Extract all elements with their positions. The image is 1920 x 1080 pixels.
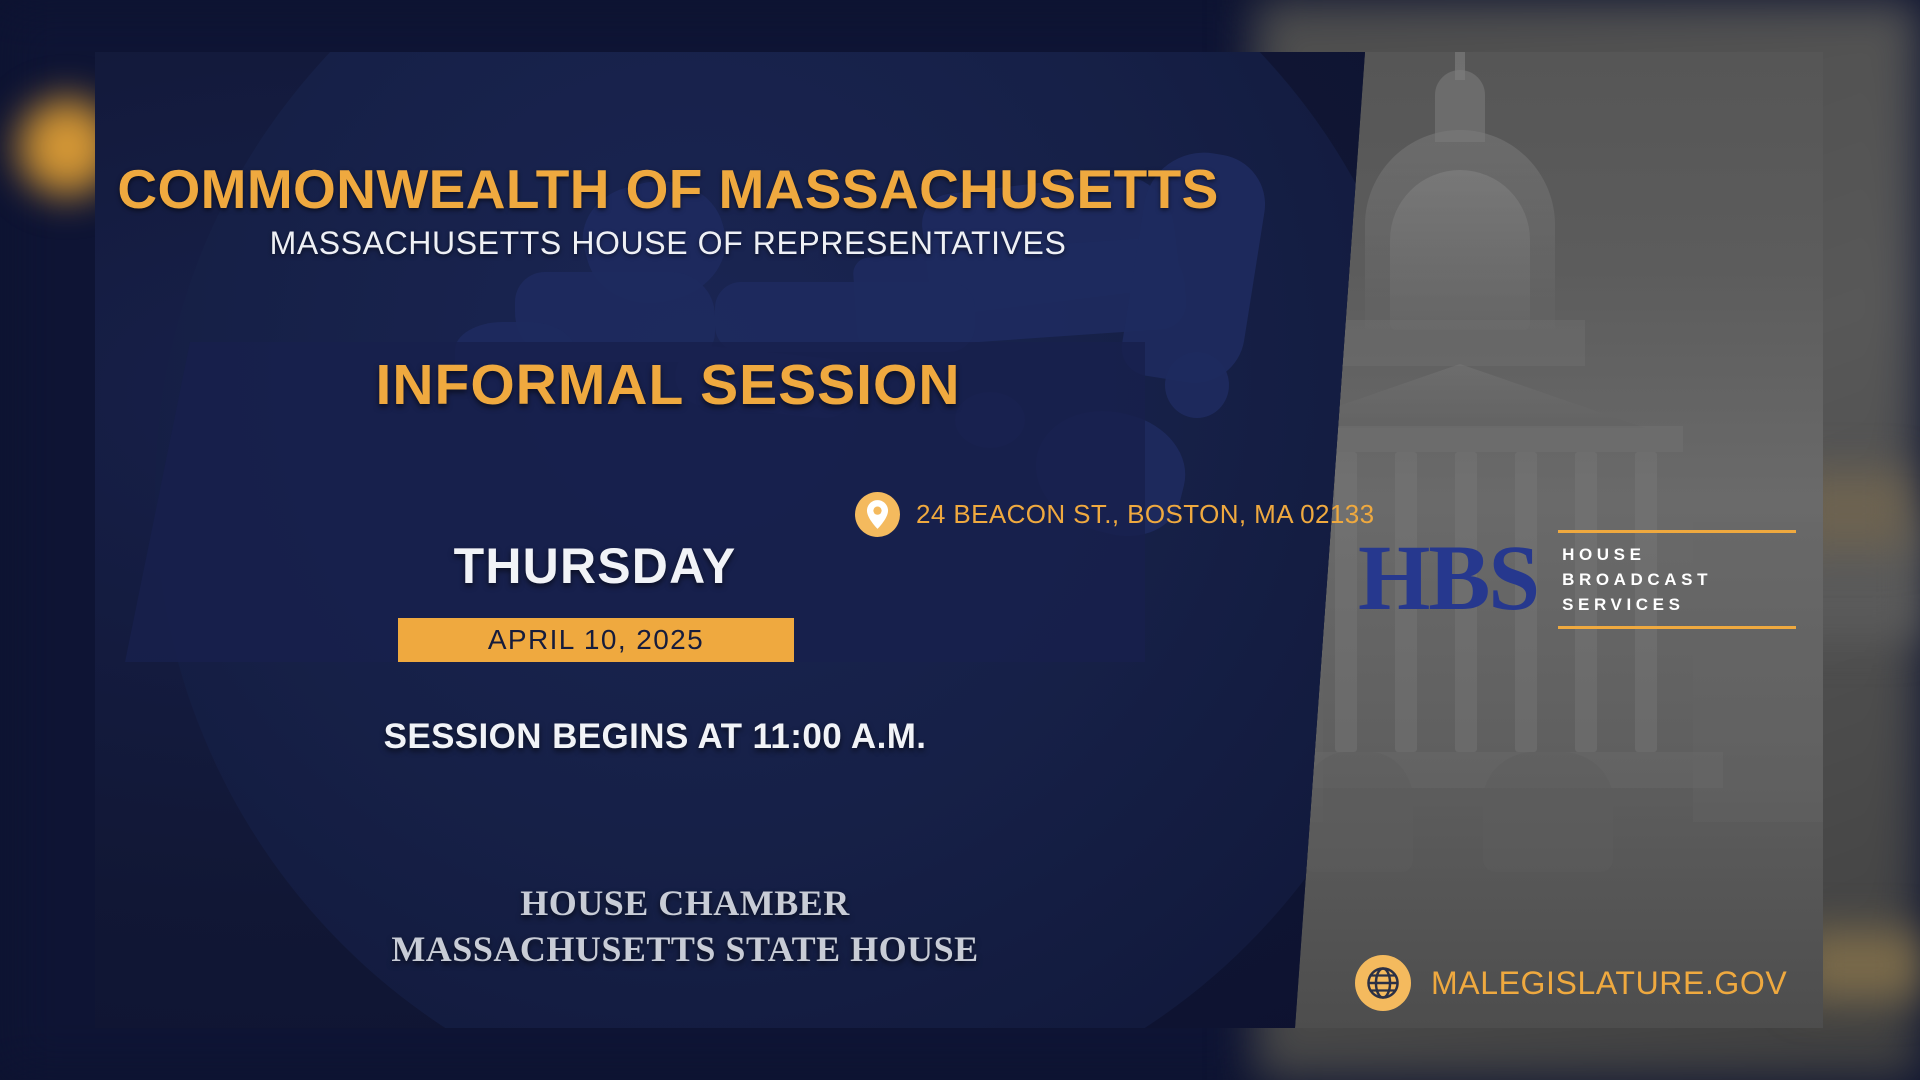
website-url[interactable]: MALEGISLATURE.GOV	[1431, 965, 1787, 1002]
hbs-rule-bottom	[1558, 626, 1796, 629]
hbs-monogram: HBS	[1358, 535, 1538, 623]
hbs-logo: HBS HOUSE BROADCAST SERVICES	[1358, 522, 1796, 637]
venue-block: HOUSE CHAMBER MASSACHUSETTS STATE HOUSE	[185, 880, 1185, 972]
hbs-word-services: SERVICES	[1562, 592, 1796, 617]
event-date-text: APRIL 10, 2025	[488, 624, 704, 656]
session-announcement-card: COMMONWEALTH OF MASSACHUSETTS MASSACHUSE…	[95, 52, 1823, 1028]
card-content: COMMONWEALTH OF MASSACHUSETTS MASSACHUSE…	[95, 52, 1823, 1028]
page-subtitle: MASSACHUSETTS HOUSE OF REPRESENTATIVES	[113, 225, 1223, 262]
website-row[interactable]: MALEGISLATURE.GOV	[1355, 955, 1787, 1011]
hbs-word-broadcast: BROADCAST	[1562, 567, 1796, 592]
hbs-lines: HOUSE BROADCAST SERVICES	[1558, 533, 1796, 626]
location-pin-icon	[855, 492, 900, 537]
event-date-banner: APRIL 10, 2025	[398, 618, 794, 662]
globe-icon	[1355, 955, 1411, 1011]
event-weekday: THURSDAY	[360, 537, 830, 595]
venue-line-2: MASSACHUSETTS STATE HOUSE	[185, 926, 1185, 972]
session-start-time: SESSION BEGINS AT 11:00 A.M.	[215, 717, 1095, 757]
hbs-wordmark: HOUSE BROADCAST SERVICES	[1558, 522, 1796, 637]
hbs-word-house: HOUSE	[1562, 542, 1796, 567]
page-title: COMMONWEALTH OF MASSACHUSETTS	[113, 157, 1223, 221]
session-type-heading: INFORMAL SESSION	[113, 352, 1223, 418]
address-text: 24 BEACON ST., BOSTON, MA 02133	[916, 499, 1374, 530]
venue-line-1: HOUSE CHAMBER	[185, 880, 1185, 926]
address-row: 24 BEACON ST., BOSTON, MA 02133	[855, 492, 1374, 537]
